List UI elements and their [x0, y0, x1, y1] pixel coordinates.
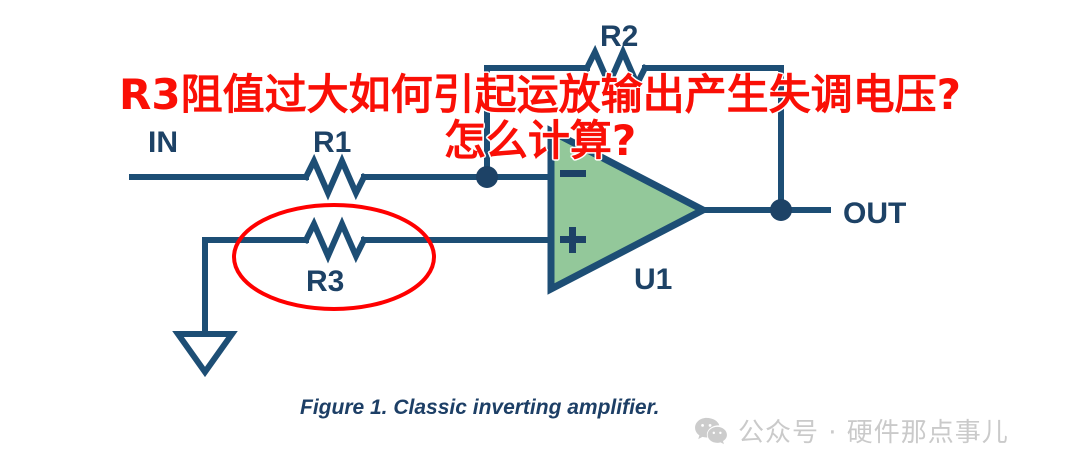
- label-r1: R1: [313, 126, 351, 159]
- watermark-text: 公众号 · 硬件那点事儿: [738, 412, 1009, 449]
- opamp-body: [551, 131, 703, 289]
- resistor-r1-symbol: [306, 161, 364, 193]
- label-u1: U1: [634, 263, 672, 296]
- label-in: IN: [148, 126, 178, 159]
- resistor-r3-symbol: [306, 224, 364, 256]
- noninverting-pin-marker-vertical: [569, 227, 576, 253]
- resistor-r2-symbol: [587, 52, 645, 84]
- label-r3: R3: [306, 265, 344, 298]
- figure-canvas: IN R1 R2 R3 U1 OUT R3阻值过大如何引起运放输出产生失调电压?…: [0, 0, 1080, 472]
- label-r2: R2: [600, 20, 638, 53]
- figure-caption: Figure 1. Classic inverting amplifier.: [300, 396, 659, 420]
- watermark: 公众号 · 硬件那点事儿: [694, 412, 1009, 449]
- ground-symbol: [178, 334, 232, 372]
- wechat-icon: [694, 416, 728, 446]
- junction-dot-output: [770, 199, 792, 221]
- inverting-pin-marker: [560, 170, 586, 177]
- junction-dot-inverting: [476, 166, 498, 188]
- label-out: OUT: [843, 197, 906, 230]
